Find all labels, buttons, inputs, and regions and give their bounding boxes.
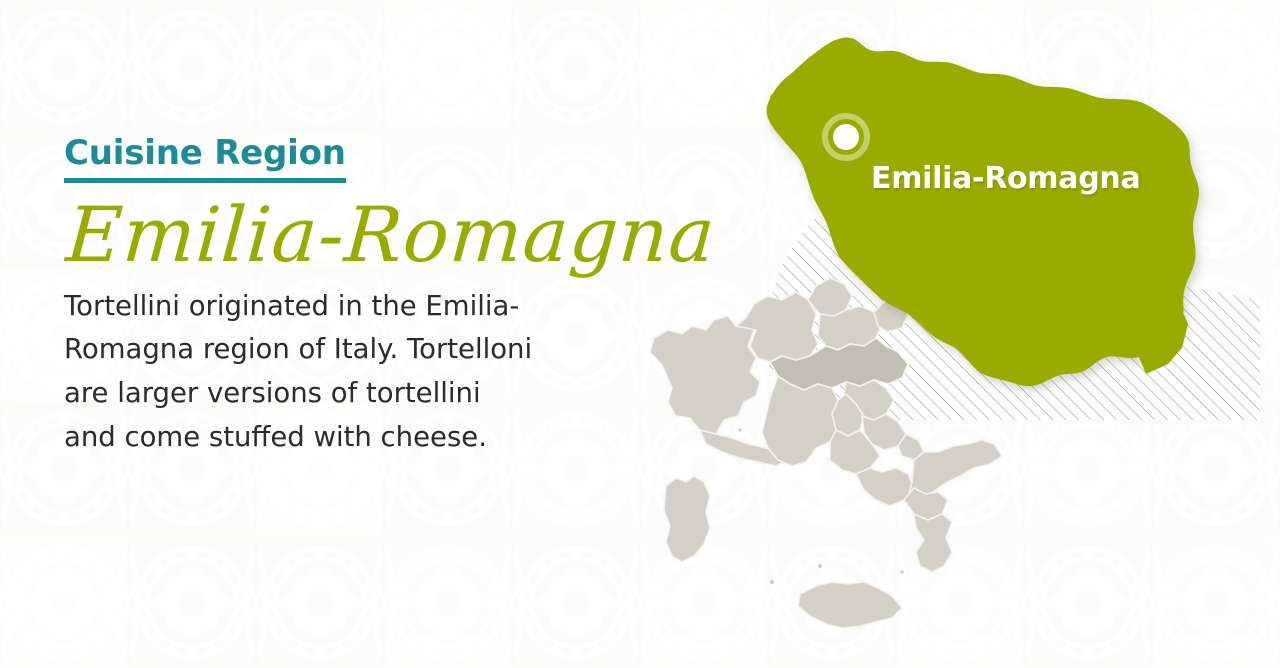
italy-map-graphic bbox=[620, 0, 1280, 668]
text-content-column: Cuisine Region Emilia-Romagna Tortellini… bbox=[64, 136, 584, 487]
infographic-card: Emilia-Romagna Cuisine Region Emilia-Rom… bbox=[0, 0, 1280, 668]
section-eyebrow-heading: Cuisine Region bbox=[64, 136, 346, 183]
page-title: Emilia-Romagna bbox=[64, 197, 589, 273]
description-paragraph: Tortellini originated in the Emilia-Roma… bbox=[64, 285, 534, 460]
map-region-label: Emilia-Romagna bbox=[871, 161, 1140, 196]
